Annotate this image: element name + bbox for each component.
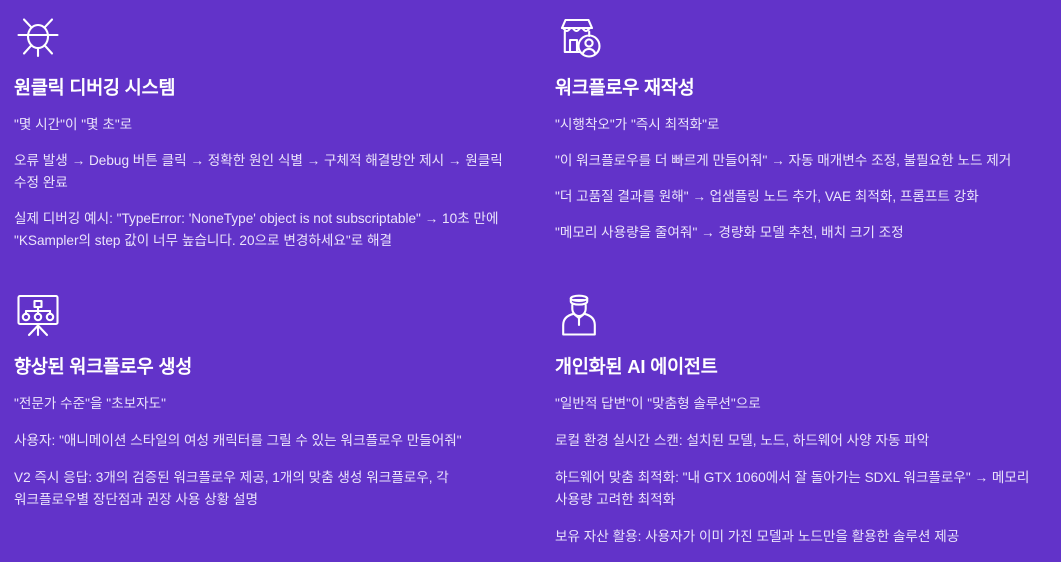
feature-card-workflow-rewrite: 워크플로우 재작성 "시행착오"가 "즉시 최적화"로 "이 워크플로우를 더 …: [535, 0, 1061, 281]
card-line: "몇 시간"이 "몇 초"로: [14, 114, 511, 136]
card-line: 로컬 환경 실시간 스캔: 설치된 모델, 노드, 하드웨어 사양 자동 파악: [555, 430, 1031, 452]
card-line: 사용자: "애니메이션 스타일의 여성 캐릭터를 그릴 수 있는 워크플로우 만…: [14, 430, 511, 452]
card-body: "몇 시간"이 "몇 초"로 오류 발생 → Debug 버튼 클릭 → 정확한…: [14, 114, 511, 252]
card-title: 워크플로우 재작성: [555, 76, 1031, 99]
card-line: "메모리 사용량을 줄여줘" → 경량화 모델 추천, 배치 크기 조정: [555, 222, 1031, 244]
card-body: "전문가 수준"을 "초보자도" 사용자: "애니메이션 스타일의 여성 캐릭터…: [14, 393, 511, 511]
feature-card-personalized-agent: 개인화된 AI 에이전트 "일반적 답변"이 "맞춤형 솔루션"으로 로컬 환경…: [535, 281, 1061, 562]
card-line: 보유 자산 활용: 사용자가 이미 가진 모델과 노드만을 활용한 솔루션 제공: [555, 526, 1031, 548]
card-title: 원클릭 디버깅 시스템: [14, 76, 511, 99]
card-body: "시행착오"가 "즉시 최적화"로 "이 워크플로우를 더 빠르게 만들어줘" …: [555, 114, 1031, 244]
feature-card-debugging: 원클릭 디버깅 시스템 "몇 시간"이 "몇 초"로 오류 발생 → Debug…: [0, 0, 535, 281]
card-body: "일반적 답변"이 "맞춤형 솔루션"으로 로컬 환경 실시간 스캔: 설치된 …: [555, 393, 1031, 548]
card-title: 향상된 워크플로우 생성: [14, 355, 511, 378]
presentation-flowchart-icon: [14, 291, 62, 339]
card-line: "더 고품질 결과를 원해" → 업샘플링 노드 추가, VAE 최적화, 프롬…: [555, 186, 1031, 208]
card-title: 개인화된 AI 에이전트: [555, 355, 1031, 378]
card-line: "이 워크플로우를 더 빠르게 만들어줘" → 자동 매개변수 조정, 불필요한…: [555, 150, 1031, 172]
feature-grid: 원클릭 디버깅 시스템 "몇 시간"이 "몇 초"로 오류 발생 → Debug…: [0, 0, 1061, 562]
storefront-user-icon: [555, 12, 603, 60]
feature-card-workflow-generation: 향상된 워크플로우 생성 "전문가 수준"을 "초보자도" 사용자: "애니메이…: [0, 281, 535, 562]
card-line: 오류 발생 → Debug 버튼 클릭 → 정확한 원인 식별 → 구체적 해결…: [14, 150, 511, 194]
bug-icon: [14, 12, 62, 60]
card-line: "시행착오"가 "즉시 최적화"로: [555, 114, 1031, 136]
card-line: V2 즉시 응답: 3개의 검증된 워크플로우 제공, 1개의 맞춤 생성 워크…: [14, 467, 511, 511]
card-line: "일반적 답변"이 "맞춤형 솔루션"으로: [555, 393, 1031, 415]
card-line: 실제 디버깅 예시: "TypeError: 'NoneType' object…: [14, 208, 511, 252]
card-line: "전문가 수준"을 "초보자도": [14, 393, 511, 415]
concierge-person-icon: [555, 291, 603, 339]
card-line: 하드웨어 맞춤 최적화: "내 GTX 1060에서 잘 돌아가는 SDXL 워…: [555, 467, 1031, 511]
